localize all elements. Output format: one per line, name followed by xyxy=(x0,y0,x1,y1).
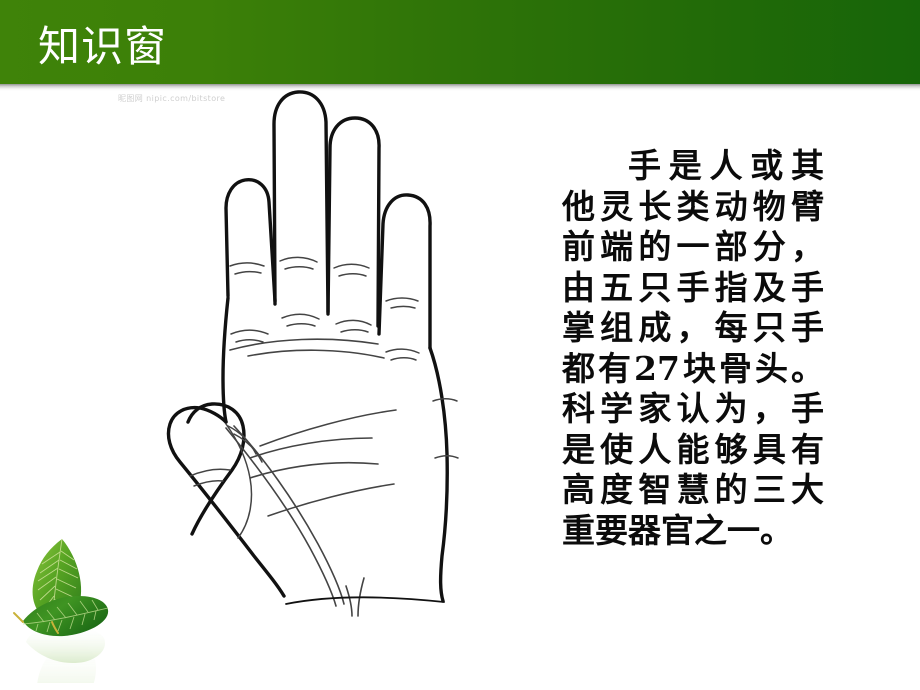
slide-canvas: 知识窗 xyxy=(0,0,920,690)
body-paragraph: 手是人或其他灵长类动物臂前端的一部分，由五只手指及手掌组成，每只手都有27块骨头… xyxy=(562,146,824,551)
page-title: 知识窗 xyxy=(38,21,167,73)
hand-line-drawing xyxy=(78,86,498,646)
leaf-decoration xyxy=(4,508,132,683)
image-watermark: 昵图网 nipic.com/bitstore xyxy=(118,93,225,104)
